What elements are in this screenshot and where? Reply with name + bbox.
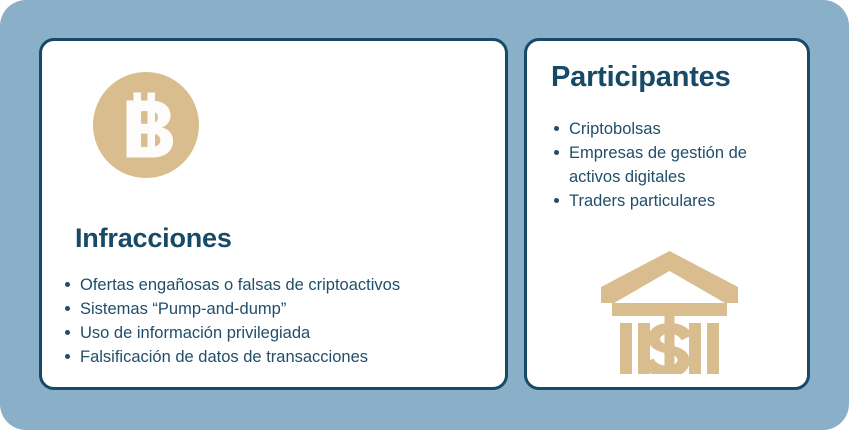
infographic-canvas: Infracciones Ofertas engañosas o falsas … [0,0,849,430]
bitcoin-b-glyph [93,72,199,178]
list-item: Uso de información privilegiada [62,321,492,345]
list-item: Traders particulares [551,189,791,213]
list-item: Falsificación de datos de transacciones [62,345,492,369]
cards-row: Infracciones Ofertas engañosas o falsas … [39,38,810,390]
card-participantes[interactable]: Participantes Criptobolsas Empresas de g… [524,38,810,390]
bank-dollar-icon [598,249,741,374]
page-title-participantes: Participantes [551,61,731,94]
bitcoin-icon [93,72,199,178]
list-item: Sistemas “Pump-and-dump” [62,297,492,321]
list-item: Criptobolsas [551,117,791,141]
page-title-infracciones: Infracciones [75,223,232,253]
card-infracciones[interactable]: Infracciones Ofertas engañosas o falsas … [39,38,508,390]
bullet-list-infracciones: Ofertas engañosas o falsas de criptoacti… [62,273,492,369]
list-item: Empresas de gestión de activos digitales [551,141,791,189]
bullet-list-participantes: Criptobolsas Empresas de gestión de acti… [551,117,791,213]
list-item: Ofertas engañosas o falsas de criptoacti… [62,273,492,297]
